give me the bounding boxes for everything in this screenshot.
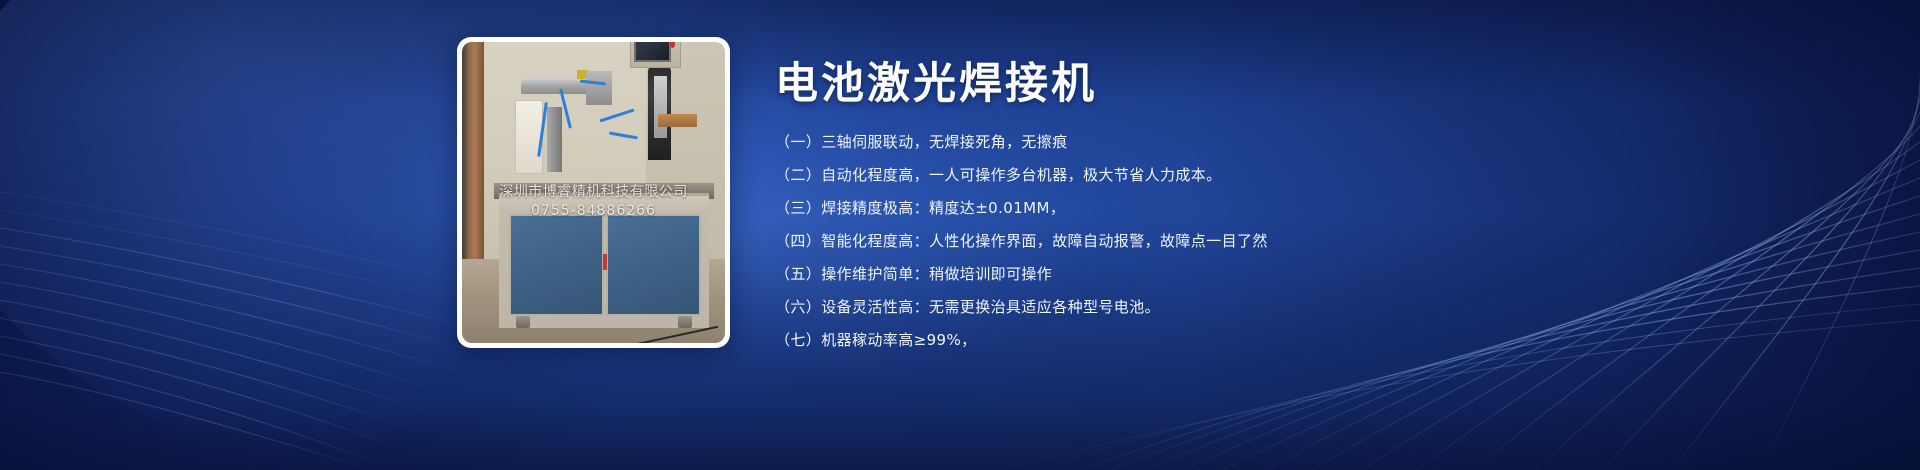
photo-base-cabinet <box>499 193 709 328</box>
photo-cabinet-handle <box>603 254 607 270</box>
photo-white-panel <box>515 100 543 174</box>
product-photo: 深圳市博睿精机科技有限公司 0755-84886266 <box>462 42 725 343</box>
feature-item-7: （七）机器稼动率高≥99%， <box>775 333 1825 348</box>
feature-list: （一）三轴伺服联动，无焊接死角，无擦痕 （二）自动化程度高，一人可操作多台机器，… <box>775 135 1825 348</box>
feature-item-2: （二）自动化程度高，一人可操作多台机器，极大节省人力成本。 <box>775 168 1825 201</box>
page-title: 电池激光焊接机 <box>775 60 1825 109</box>
photo-hmi-screen <box>634 42 671 62</box>
photo-cabinet-door-right <box>606 214 700 316</box>
product-photo-frame[interactable]: 深圳市博睿精机科技有限公司 0755-84886266 <box>457 37 730 348</box>
photo-door-frame <box>467 42 484 295</box>
photo-column-glass <box>654 76 667 139</box>
photo-cabinet-door-left <box>509 214 603 316</box>
photo-air-hose-3 <box>600 109 635 123</box>
photo-copper-plate <box>658 114 697 127</box>
photo-leveling-foot-left <box>516 316 530 328</box>
feature-item-1: （一）三轴伺服联动，无焊接死角，无擦痕 <box>775 135 1825 168</box>
feature-item-4: （四）智能化程度高：人性化操作界面，故障自动报警，故障点一目了然 <box>775 234 1825 267</box>
feature-item-5: （五）操作维护简单：稍做培训即可操作 <box>775 267 1825 300</box>
promo-banner: 深圳市博睿精机科技有限公司 0755-84886266 电池激光焊接机 （一）三… <box>0 0 1920 470</box>
photo-air-hose-4 <box>609 131 638 139</box>
feature-item-3: （三）焊接精度极高：精度达±0.01MM， <box>775 201 1825 234</box>
photo-leveling-foot-right <box>678 316 692 328</box>
photo-red-button <box>670 42 675 48</box>
feature-item-6: （六）设备灵活性高：无需更换治具适应各种型号电池。 <box>775 300 1825 333</box>
photo-slide-block <box>586 71 612 105</box>
photo-support-post <box>547 107 562 172</box>
banner-content: 电池激光焊接机 （一）三轴伺服联动，无焊接死角，无擦痕 （二）自动化程度高，一人… <box>775 60 1825 348</box>
photo-machine-assembly <box>515 66 678 186</box>
photo-hmi-panel <box>630 42 681 68</box>
